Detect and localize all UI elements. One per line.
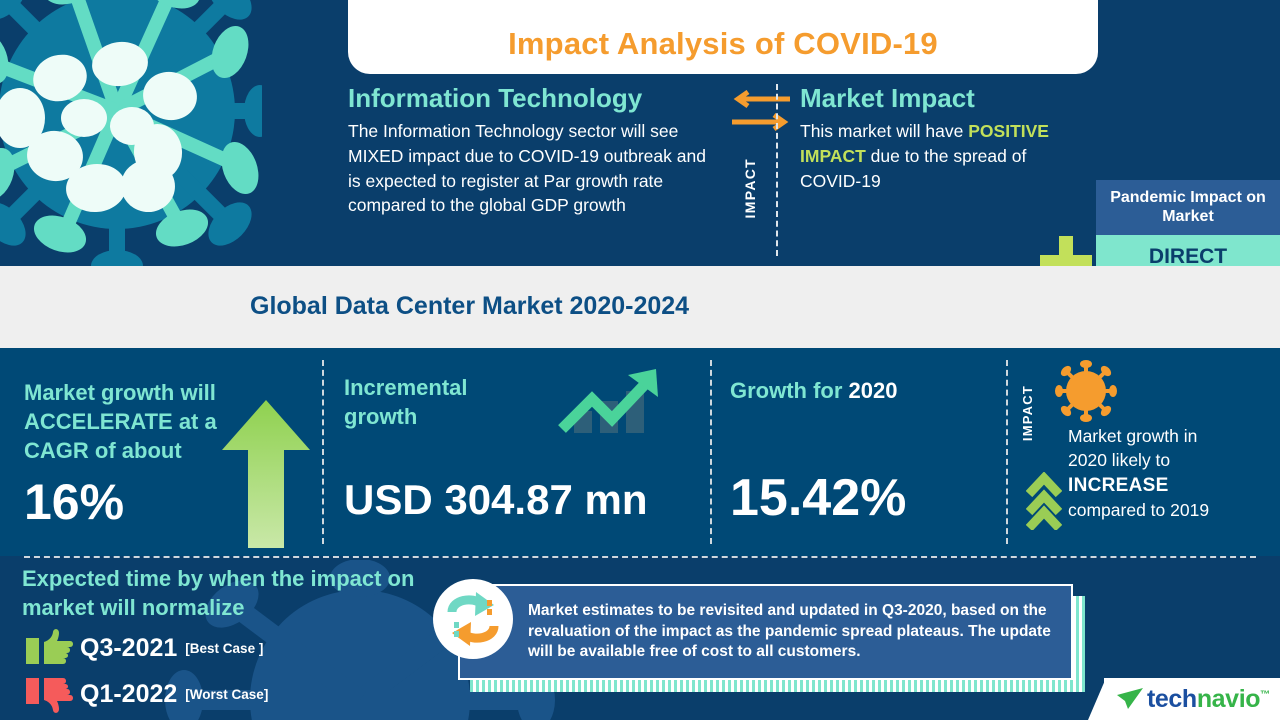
- right-impact-line2: 2020 likely to: [1068, 450, 1170, 470]
- information-technology-block: Information Technology The Information T…: [348, 84, 720, 218]
- impact-summary-area: Information Technology The Information T…: [348, 84, 1280, 266]
- metric-growth-label-year: 2020: [849, 378, 898, 403]
- worst-case-row: Q1-2022 [Worst Case]: [22, 674, 422, 714]
- metric-incremental-label: Incremental growth: [344, 373, 539, 431]
- logo-part-tech: tech: [1147, 685, 1197, 713]
- technavio-wordmark: technavio™: [1147, 685, 1270, 714]
- report-title-band: Global Data Center Market 2020-2024: [0, 266, 1280, 348]
- worst-case-quarter: Q1-2022: [80, 680, 177, 709]
- best-case-row: Q3-2021 [Best Case ]: [22, 628, 422, 668]
- metric-growth-label: Growth for 2020: [730, 376, 898, 405]
- right-impact-text: Market growth in 2020 likely to INCREASE…: [1068, 425, 1273, 523]
- right-impact-axis-label: IMPACT: [1020, 385, 1035, 441]
- it-heading: Information Technology: [348, 84, 720, 114]
- note-text: Market estimates to be revisited and upd…: [460, 595, 1071, 669]
- best-case-tag: [Best Case ]: [185, 641, 263, 656]
- expected-time-heading: Expected time by when the impact on mark…: [22, 565, 422, 622]
- coronavirus-graphic: [0, 0, 262, 296]
- metric-growth-value: 15.42%: [730, 468, 906, 528]
- growth-chart-icon: [556, 365, 666, 437]
- note-box: Market estimates to be revisited and upd…: [458, 584, 1073, 680]
- logo-tm: ™: [1260, 689, 1270, 700]
- refresh-icon: [432, 578, 514, 660]
- technavio-mark-icon: [1116, 687, 1144, 711]
- it-body: The Information Technology sector will s…: [348, 119, 720, 218]
- logo-part-navio: navio: [1197, 685, 1260, 713]
- divider-metric-2: [710, 360, 712, 544]
- header-title-pill: Impact Analysis of COVID-19: [348, 0, 1098, 74]
- metric-growth-label-pre: Growth for: [730, 378, 849, 403]
- impact-axis: IMPACT: [728, 84, 794, 266]
- metric-incremental-value: USD 304.87 mn: [344, 476, 647, 524]
- divider-horizontal-bottom: [24, 556, 1256, 558]
- expected-time-block: Expected time by when the impact on mark…: [22, 565, 422, 714]
- right-impact-line1: Market growth in: [1068, 426, 1197, 446]
- bidirectional-arrows-icon: [728, 90, 794, 134]
- page-title: Impact Analysis of COVID-19: [508, 26, 938, 62]
- worst-case-tag: [Worst Case]: [185, 687, 268, 702]
- right-impact-line3: compared to 2019: [1068, 500, 1209, 520]
- pandemic-impact-header: Pandemic Impact on Market: [1096, 180, 1280, 235]
- thumbs-up-icon: [22, 628, 80, 668]
- market-impact-block: Market Impact This market will have POSI…: [800, 84, 1090, 193]
- best-case-quarter: Q3-2021: [80, 634, 177, 663]
- impact-axis-label: IMPACT: [742, 158, 758, 218]
- technavio-logo: technavio™: [1104, 678, 1280, 720]
- metric-cagr-value: 16%: [24, 473, 124, 531]
- market-impact-body-pre: This market will have: [800, 121, 968, 141]
- divider-metric-1: [322, 360, 324, 544]
- divider-metric-3: [1006, 360, 1008, 544]
- market-impact-heading: Market Impact: [800, 84, 1090, 114]
- infographic-root: Impact Analysis of COVID-19 Information …: [0, 0, 1280, 720]
- divider-vertical-top: [776, 84, 778, 256]
- metric-growth-2020: Growth for 2020 15.42%: [730, 348, 1000, 556]
- up-arrow-icon: [220, 400, 312, 548]
- thumbs-down-icon: [22, 674, 80, 714]
- chevrons-up-icon: [1026, 472, 1062, 530]
- report-title: Global Data Center Market 2020-2024: [250, 292, 689, 321]
- right-impact-emphasis: INCREASE: [1068, 475, 1169, 496]
- market-impact-body: This market will have POSITIVE IMPACT du…: [800, 119, 1090, 194]
- coronavirus-orange-icon: [1055, 360, 1117, 422]
